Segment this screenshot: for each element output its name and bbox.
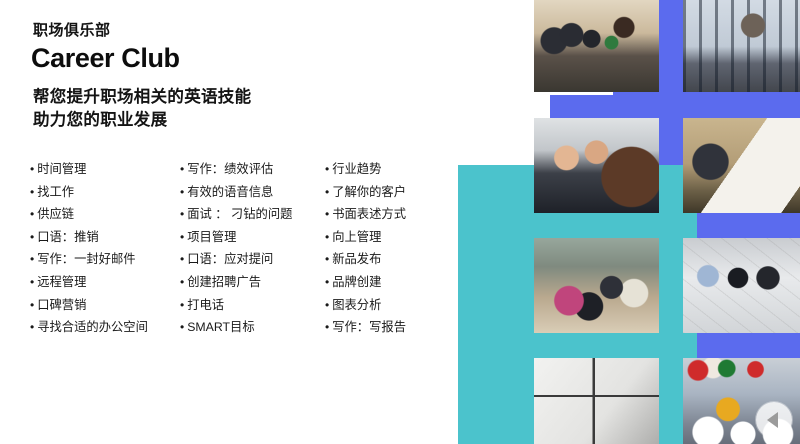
list-item-label: 远程管理 (37, 271, 86, 294)
bullet-icon: • (30, 203, 34, 226)
bullet-icon: • (325, 294, 329, 317)
list-item: •书面表述方式 (325, 203, 450, 226)
list-item-label: 时间管理 (37, 158, 86, 181)
list-item-label: 写作：一封好邮件 (37, 248, 135, 271)
bullet-icon: • (325, 181, 329, 204)
photo-speaker-on-stage (683, 0, 800, 92)
list-item-label: 寻找合适的办公空间 (37, 316, 148, 339)
photo-surface (534, 238, 659, 333)
list-item-label: 向上管理 (332, 226, 381, 249)
list-item-label: 面试 ： 刁钻的问题 (187, 203, 292, 226)
bullet-icon: • (180, 316, 184, 339)
list-item-label: 书面表述方式 (332, 203, 406, 226)
list-item-label: SMART目标 (187, 316, 254, 339)
eyebrow-label: 职场俱乐部 (33, 22, 111, 40)
page-title: Career Club (31, 42, 180, 76)
bullet-icon: • (325, 248, 329, 271)
bullet-icon: • (30, 226, 34, 249)
topic-column-2: •写作：绩效评估 •有效的语音信息 •面试 ： 刁钻的问题 •项目管理 •口语：… (180, 158, 325, 339)
list-item-label: 了解你的客户 (332, 181, 406, 204)
list-item: •打电话 (180, 294, 325, 317)
list-item-label: 口碑营销 (37, 294, 86, 317)
list-item: •行业趋势 (325, 158, 450, 181)
bullet-icon: • (180, 158, 184, 181)
list-item: •有效的语音信息 (180, 181, 325, 204)
photo-surface (683, 118, 800, 213)
list-item: •向上管理 (325, 226, 450, 249)
triangle-left-icon (767, 412, 778, 428)
photo-business-networking (534, 118, 659, 213)
bullet-icon: • (30, 271, 34, 294)
list-item-label: 图表分析 (332, 294, 381, 317)
topic-list: •时间管理 •找工作 •供应链 •口语：推销 •写作：一封好邮件 •远程管理 •… (30, 158, 450, 339)
topic-column-3: •行业趋势 •了解你的客户 •书面表述方式 •向上管理 •新品发布 •品牌创建 … (325, 158, 450, 339)
bullet-icon: • (180, 294, 184, 317)
list-item-label: 行业趋势 (332, 158, 381, 181)
photo-whiteboard-presentation (683, 118, 800, 213)
photo-swot-notebook (534, 358, 659, 444)
list-item-label: 品牌创建 (332, 271, 381, 294)
list-item-label: 供应链 (37, 203, 74, 226)
bullet-icon: • (180, 226, 184, 249)
list-item-label: 找工作 (37, 181, 74, 204)
list-item: •写作：绩效评估 (180, 158, 325, 181)
bullet-icon: • (325, 203, 329, 226)
photo-surface (683, 0, 800, 92)
list-item: •口语：应对提问 (180, 248, 325, 271)
list-item: •项目管理 (180, 226, 325, 249)
list-item: •SMART目标 (180, 316, 325, 339)
list-item: •图表分析 (325, 294, 450, 317)
list-item: •远程管理 (30, 271, 180, 294)
list-item: •口语：推销 (30, 226, 180, 249)
list-item: •写作：写报告 (325, 316, 450, 339)
photo-surface (534, 0, 659, 92)
slide-root: 职场俱乐部 Career Club 帮您提升职场相关的英语技能 助力您的职业发展… (0, 0, 800, 444)
bullet-icon: • (325, 226, 329, 249)
list-item-label: 口语：推销 (37, 226, 99, 249)
photo-group-workshop (534, 238, 659, 333)
photo-candidates-waiting (683, 238, 800, 333)
list-item: •供应链 (30, 203, 180, 226)
bullet-icon: • (180, 248, 184, 271)
bullet-icon: • (325, 158, 329, 181)
photo-surface (534, 118, 659, 213)
list-item: •时间管理 (30, 158, 180, 181)
bullet-icon: • (180, 203, 184, 226)
image-collage (458, 0, 800, 444)
bullet-icon: • (30, 181, 34, 204)
list-item-label: 创建招聘广告 (187, 271, 261, 294)
list-item: •寻找合适的办公空间 (30, 316, 180, 339)
photo-crowd-networking-event (534, 0, 659, 92)
bullet-icon: • (30, 316, 34, 339)
list-item-label: 口语：应对提问 (187, 248, 273, 271)
list-item-label: 写作：写报告 (332, 316, 406, 339)
list-item: •创建招聘广告 (180, 271, 325, 294)
list-item-label: 新品发布 (332, 248, 381, 271)
bullet-icon: • (325, 271, 329, 294)
photo-surface (683, 238, 800, 333)
list-item-label: 写作：绩效评估 (187, 158, 273, 181)
list-item: •面试 ： 刁钻的问题 (180, 203, 325, 226)
bullet-icon: • (180, 271, 184, 294)
bullet-icon: • (180, 181, 184, 204)
topic-column-1: •时间管理 •找工作 •供应链 •口语：推销 •写作：一封好邮件 •远程管理 •… (30, 158, 180, 339)
content-panel: 职场俱乐部 Career Club 帮您提升职场相关的英语技能 助力您的职业发展… (0, 0, 458, 444)
prev-slide-button[interactable] (756, 402, 792, 438)
list-item: •写作：一封好邮件 (30, 248, 180, 271)
bullet-icon: • (30, 158, 34, 181)
photo-surface (534, 358, 659, 444)
bullet-icon: • (30, 248, 34, 271)
list-item: •品牌创建 (325, 271, 450, 294)
list-item: •口碑营销 (30, 294, 180, 317)
list-item-label: 项目管理 (187, 226, 236, 249)
bullet-icon: • (30, 294, 34, 317)
list-item-label: 有效的语音信息 (187, 181, 273, 204)
list-item: •了解你的客户 (325, 181, 450, 204)
list-item: •找工作 (30, 181, 180, 204)
bullet-icon: • (325, 316, 329, 339)
list-item: •新品发布 (325, 248, 450, 271)
page-subtitle: 帮您提升职场相关的英语技能 助力您的职业发展 (33, 86, 251, 133)
list-item-label: 打电话 (187, 294, 224, 317)
